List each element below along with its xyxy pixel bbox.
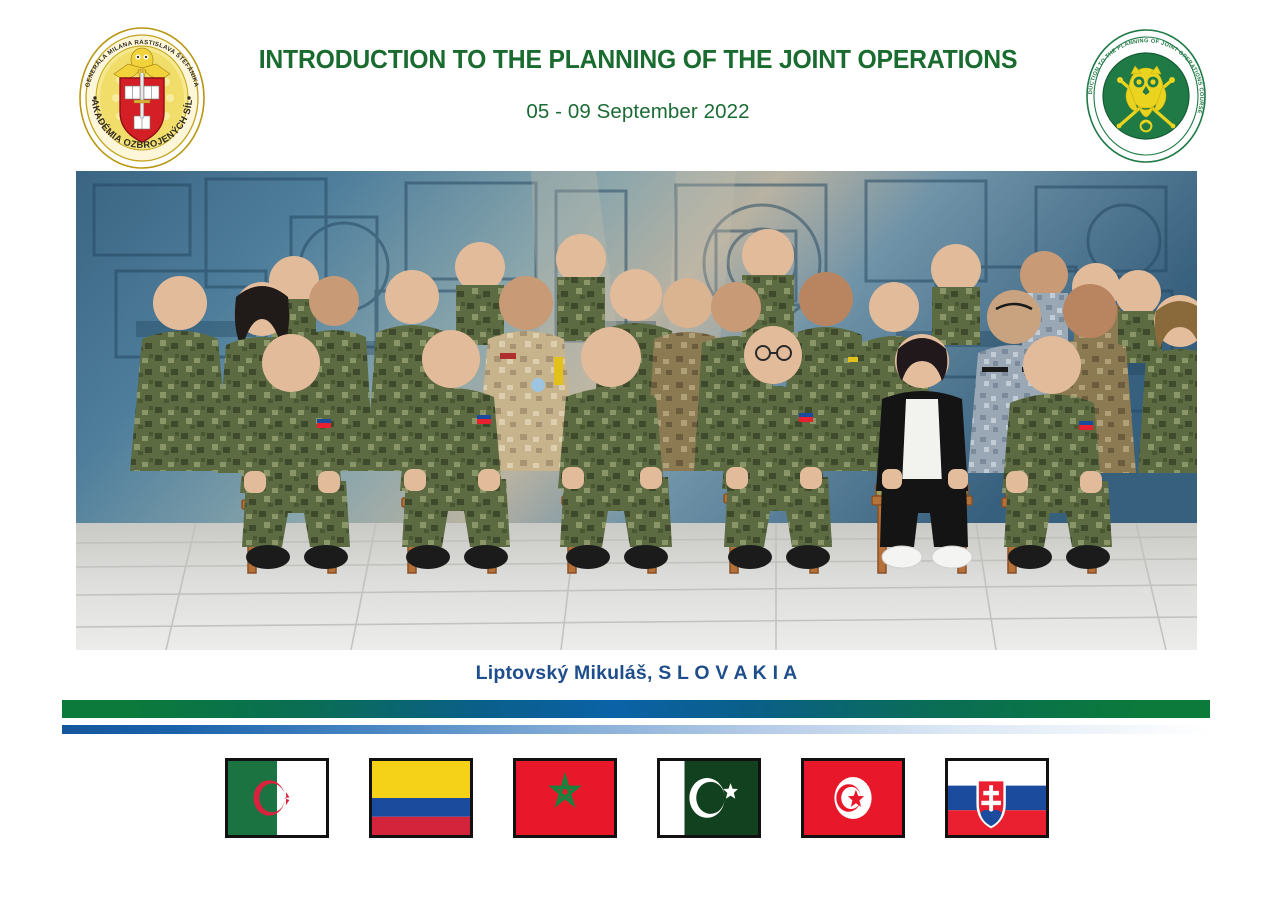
flag-colombia (369, 758, 473, 838)
poster-header: GENERÁLA MILANA RASTISLAVA ŠTEFÁNIKA AKA… (0, 0, 1273, 170)
green-blue-gradient-bar (62, 700, 1210, 718)
flag-tunisia (801, 758, 905, 838)
flag-slovakia (945, 758, 1049, 838)
participating-nations-flags (0, 758, 1273, 838)
flag-morocco (513, 758, 617, 838)
location-caption: Liptovský Mikuláš, S L O V A K I A (0, 662, 1273, 685)
course-title: INTRODUCTION TO THE PLANNING OF THE JOIN… (240, 46, 1035, 74)
flag-pakistan (657, 758, 761, 838)
course-group-photograph (76, 171, 1197, 650)
poster-page: GENERÁLA MILANA RASTISLAVA ŠTEFÁNIKA AKA… (0, 0, 1273, 900)
joint-operations-course-emblem: INTRODUCTION TO THE PLANNING OF JOINT OP… (1076, 26, 1216, 166)
academy-seal-emblem: GENERÁLA MILANA RASTISLAVA ŠTEFÁNIKA AKA… (68, 24, 216, 172)
flag-algeria (225, 758, 329, 838)
title-block: INTRODUCTION TO THE PLANNING OF THE JOIN… (228, 46, 1048, 124)
blue-fade-bar (62, 725, 1210, 734)
course-dates: 05 - 09 September 2022 (228, 100, 1048, 124)
